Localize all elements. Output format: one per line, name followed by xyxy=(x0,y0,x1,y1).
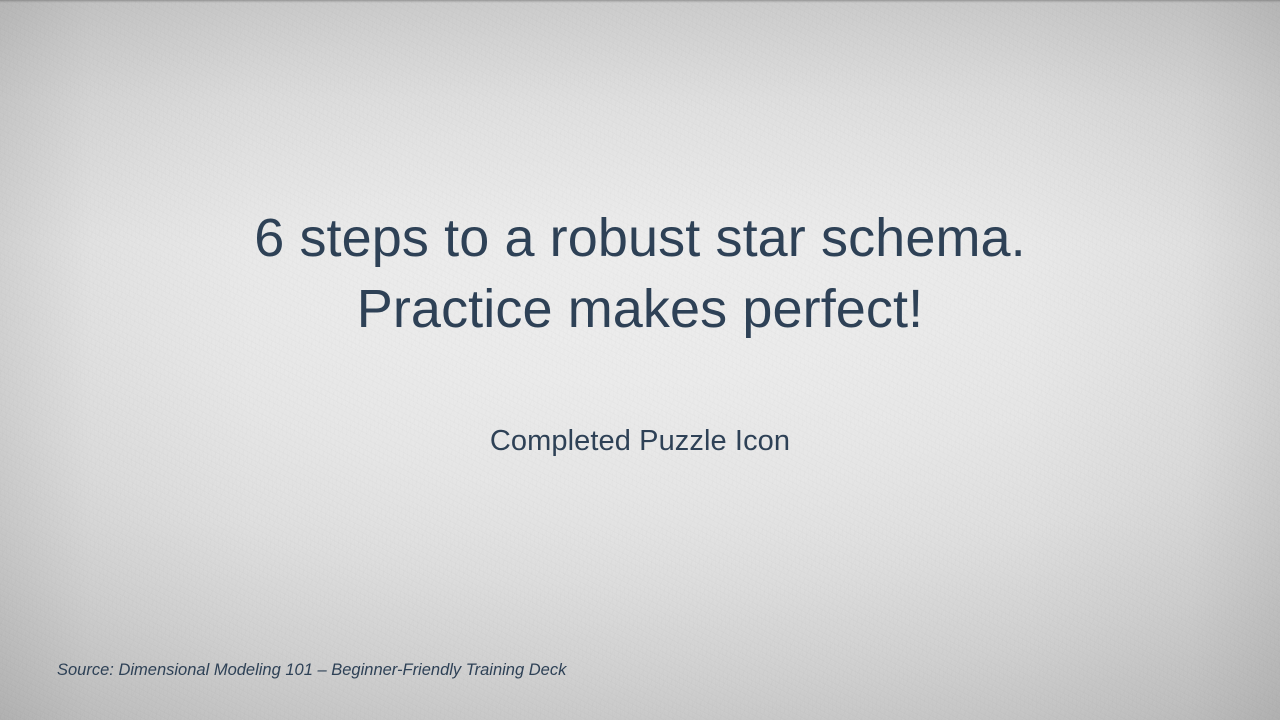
slide-title-line-2: Practice makes perfect! xyxy=(96,274,1184,345)
slide-title-line-1: 6 steps to a robust star schema. xyxy=(96,203,1184,274)
slide-source-text: Source: Dimensional Modeling 101 – Begin… xyxy=(57,659,566,681)
slide-source-note: Source: Dimensional Modeling 101 – Begin… xyxy=(57,659,566,681)
slide-subtitle: Completed Puzzle Icon xyxy=(0,423,1280,459)
slide-content: 6 steps to a robust star schema. Practic… xyxy=(0,0,1280,720)
slide-title: 6 steps to a robust star schema. Practic… xyxy=(0,203,1280,345)
presentation-slide: 6 steps to a robust star schema. Practic… xyxy=(0,0,1280,720)
slide-subtitle-text: Completed Puzzle Icon xyxy=(96,423,1184,459)
